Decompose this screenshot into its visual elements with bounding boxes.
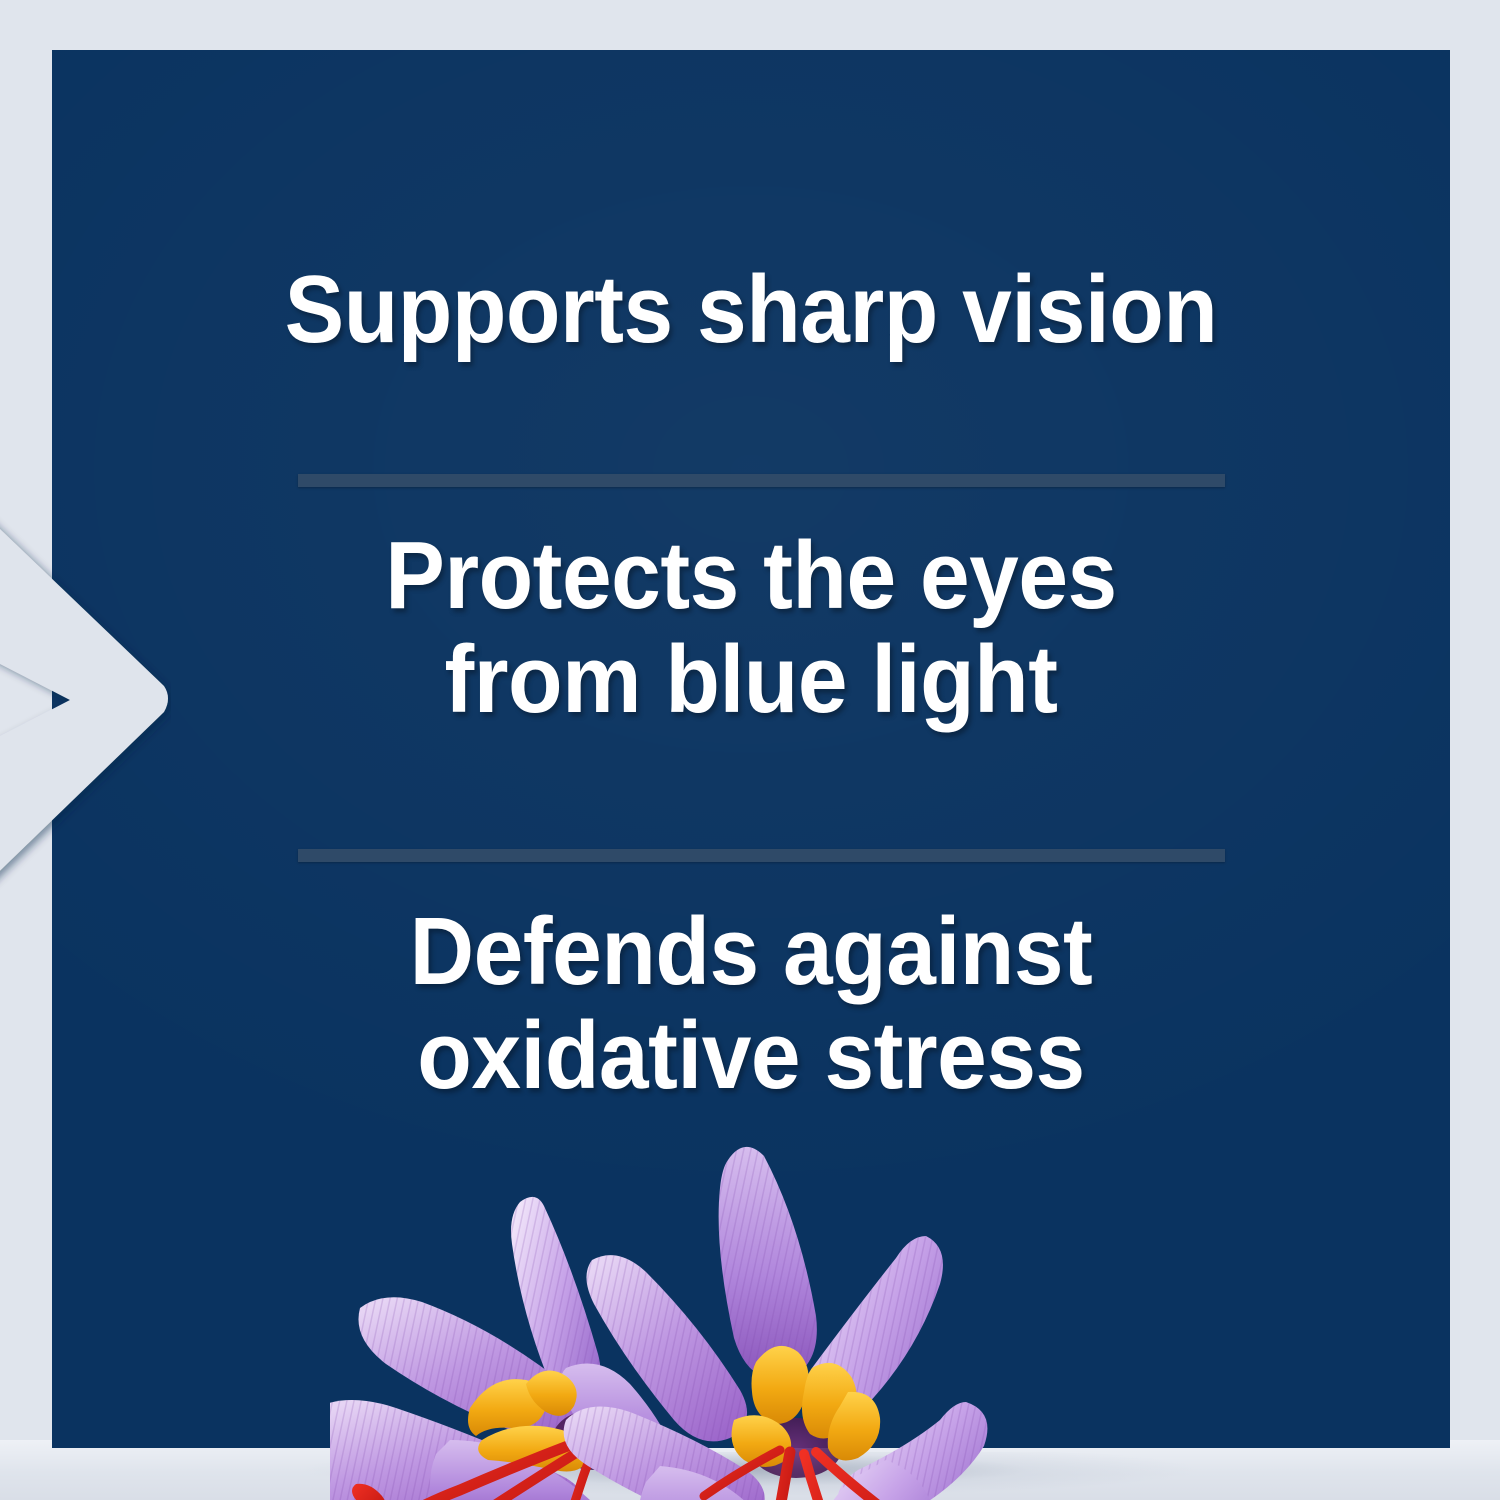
- claim-blue-light: Protects the eyes from blue light: [101, 524, 1401, 731]
- screenshot-stage: Supports sharp vision Protects the eyes …: [0, 0, 1500, 1500]
- flower-right: [564, 1147, 988, 1500]
- chevron-right-icon: [0, 500, 171, 900]
- claim-oxidative-stress: Defends against oxidative stress: [101, 900, 1401, 1107]
- claim-divider-1: [298, 474, 1225, 487]
- claim-divider-2: [298, 849, 1225, 862]
- saffron-crocus-flower-icon: [330, 1140, 1150, 1500]
- claim-sharp-vision: Supports sharp vision: [101, 258, 1401, 362]
